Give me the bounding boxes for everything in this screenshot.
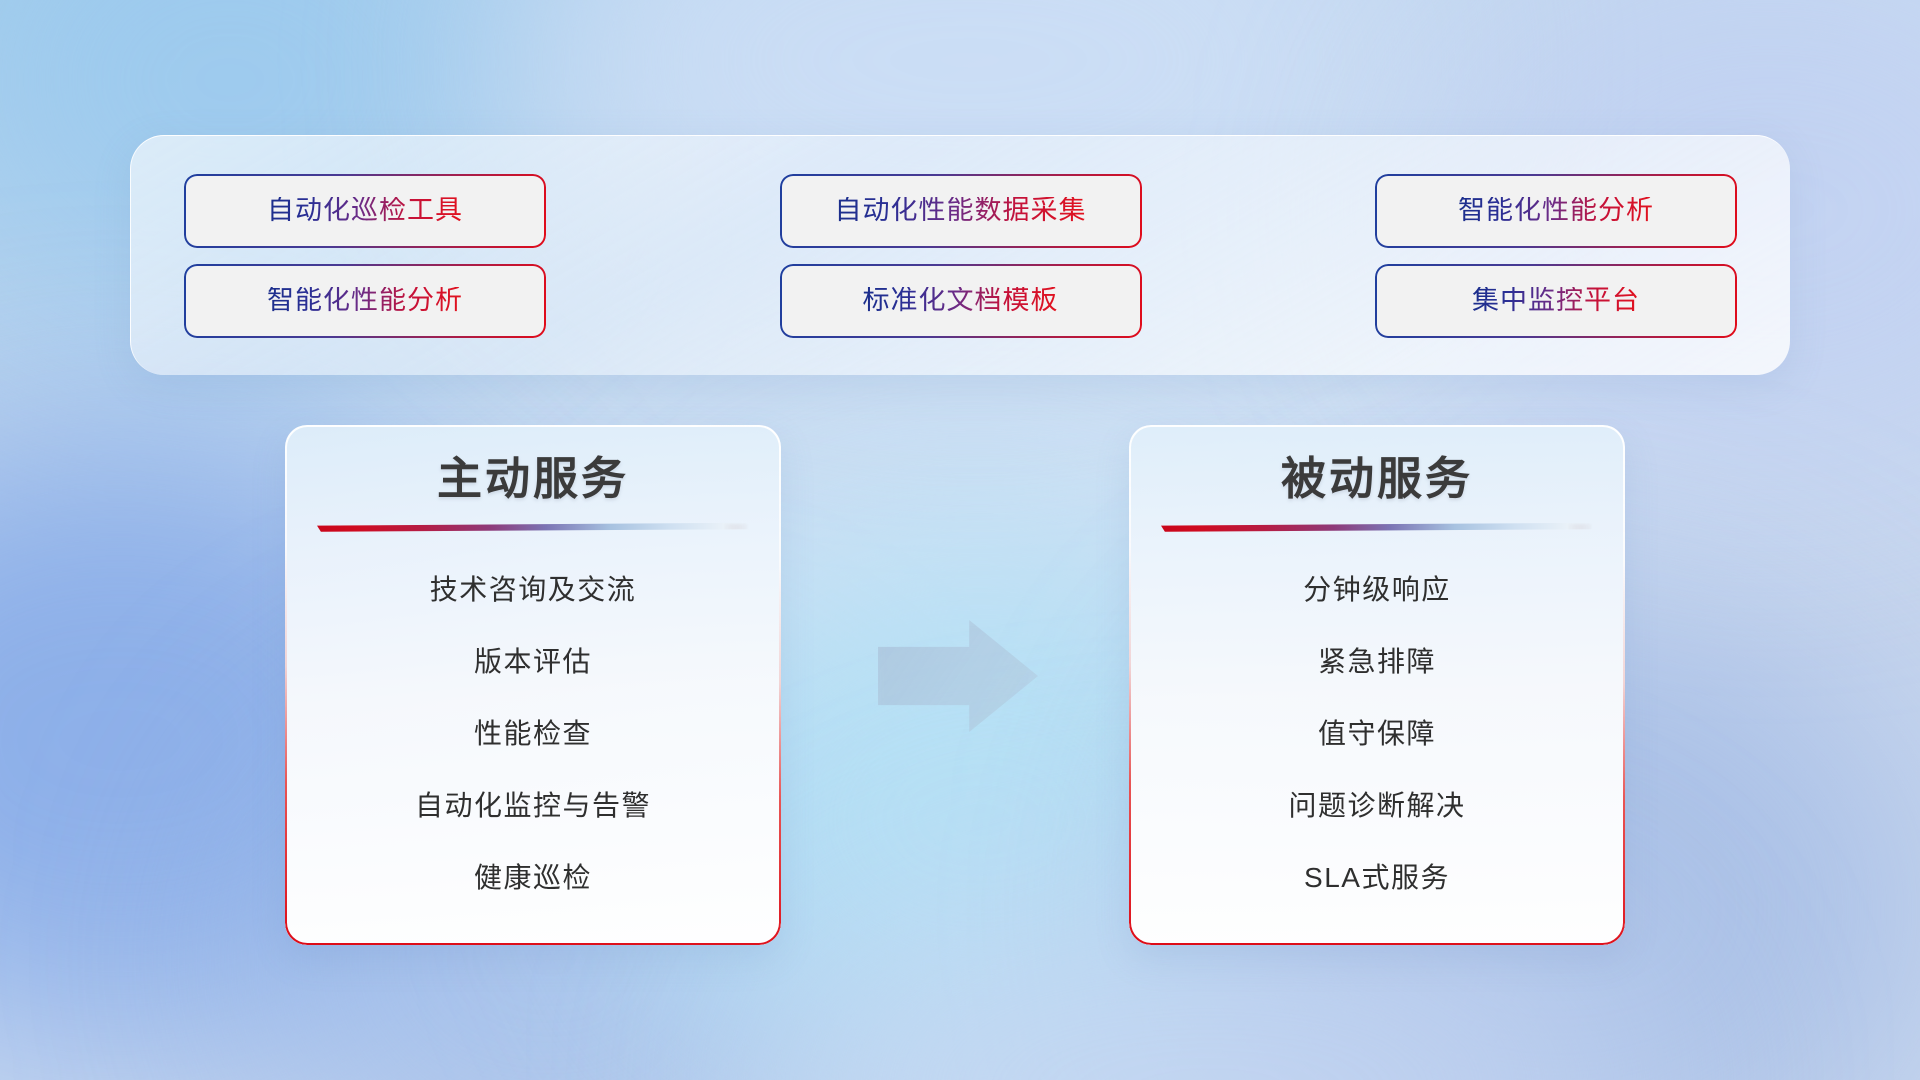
list-item: 分钟级响应: [1303, 554, 1451, 626]
list-item: 性能检查: [474, 698, 592, 770]
service-card-active-content: 主动服务 技术咨询及交流 版本评估 性能检查 自动化监控与告警 健康巡检: [285, 425, 781, 945]
service-card-passive-list: 分钟级响应 紧急排障 值守保障 问题诊断解决 SLA式服务: [1129, 554, 1625, 945]
capability-pill-standardized-document-template[interactable]: 标准化文档模板: [782, 266, 1140, 336]
list-item: SLA式服务: [1304, 842, 1450, 914]
service-card-passive-title: 被动服务: [1281, 453, 1473, 505]
list-item: 版本评估: [474, 626, 592, 698]
capability-pill-intelligent-performance-analysis-bottom[interactable]: 智能化性能分析: [186, 266, 544, 336]
service-card-passive[interactable]: 被动服务 分钟级响应 紧急排障 值守保障 问题诊断解决 SLA式服务: [1129, 425, 1625, 945]
list-item: 紧急排障: [1318, 626, 1436, 698]
service-card-passive-content: 被动服务 分钟级响应 紧急排障 值守保障 问题诊断解决 SLA式服务: [1129, 425, 1625, 945]
capability-pill-label: 自动化巡检工具: [267, 197, 463, 224]
capability-row-1: 自动化巡检工具 自动化性能数据采集 智能化性能分析: [186, 176, 1735, 246]
capability-pill-label: 自动化性能数据采集: [835, 197, 1087, 224]
capability-pill-automated-inspection-tool[interactable]: 自动化巡检工具: [186, 176, 544, 246]
capability-row-2: 智能化性能分析 标准化文档模板 集中监控平台: [186, 266, 1735, 336]
capability-panel: 自动化巡检工具 自动化性能数据采集 智能化性能分析 智能化性能分析 标准化文档模…: [130, 135, 1790, 375]
capability-pill-automated-performance-data-collection[interactable]: 自动化性能数据采集: [782, 176, 1140, 246]
list-item: 值守保障: [1318, 698, 1436, 770]
capability-pill-intelligent-performance-analysis-top[interactable]: 智能化性能分析: [1377, 176, 1735, 246]
list-item: 问题诊断解决: [1288, 770, 1465, 842]
service-card-active-title: 主动服务: [437, 453, 629, 505]
list-item: 健康巡检: [474, 842, 592, 914]
service-card-active-divider: [317, 523, 749, 532]
capability-pill-label: 智能化性能分析: [267, 287, 463, 314]
capability-pill-label: 标准化文档模板: [863, 287, 1059, 314]
service-card-active[interactable]: 主动服务 技术咨询及交流 版本评估 性能检查 自动化监控与告警 健康巡检: [285, 425, 781, 945]
capability-pill-label: 智能化性能分析: [1458, 197, 1654, 224]
capability-pill-centralized-monitoring-platform[interactable]: 集中监控平台: [1377, 266, 1735, 336]
list-item: 自动化监控与告警: [415, 770, 651, 842]
capability-pill-label: 集中监控平台: [1472, 287, 1640, 314]
service-card-passive-divider: [1161, 523, 1593, 532]
service-card-active-list: 技术咨询及交流 版本评估 性能检查 自动化监控与告警 健康巡检: [285, 554, 781, 945]
list-item: 技术咨询及交流: [430, 554, 637, 626]
